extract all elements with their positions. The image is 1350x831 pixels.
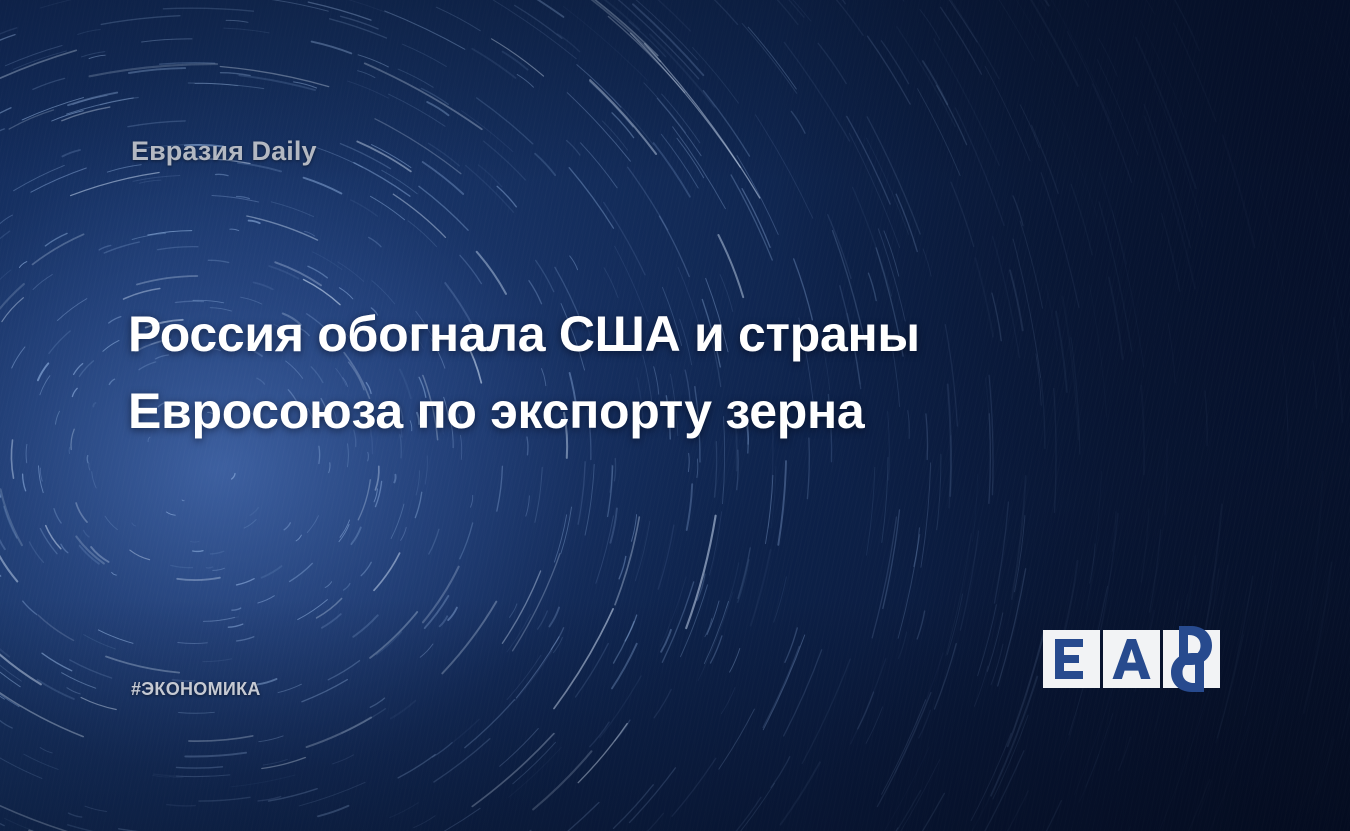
news-share-card: Евразия Daily Россия обогнала США и стра… [0, 0, 1350, 831]
eadaily-logo[interactable] [1043, 630, 1221, 692]
brand-name: Евразия Daily [131, 136, 317, 167]
headline-line-1: Россия обогнала США и страны [128, 296, 1068, 373]
logo-tile-a [1103, 630, 1160, 688]
headline-line-2: Евросоюза по экспорту зерна [128, 373, 1068, 450]
logo-tile-e [1043, 630, 1100, 688]
card-content: Евразия Daily Россия обогнала США и стра… [0, 0, 1350, 831]
logo-tile-d [1163, 630, 1220, 688]
category-tag[interactable]: #ЭКОНОМИКА [131, 679, 261, 700]
page-title: Россия обогнала США и страны Евросоюза п… [128, 296, 1068, 450]
